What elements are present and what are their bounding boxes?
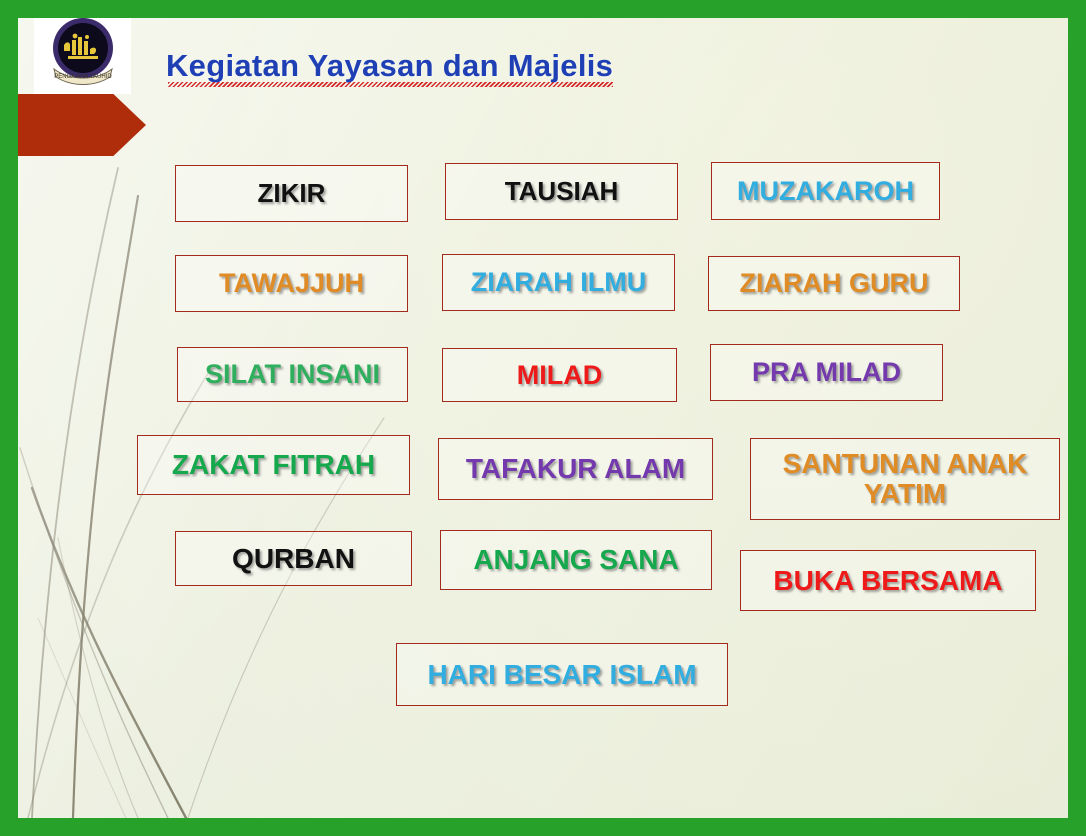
slide-canvas: PENGAJIAN TAUHID Kegiatan Yayasan dan Ma…	[18, 18, 1068, 818]
page-title: Kegiatan Yayasan dan Majelis	[166, 48, 613, 84]
activity-label: TAFAKUR ALAM	[466, 454, 685, 484]
activity-box[interactable]: TAUSIAH	[445, 163, 678, 220]
activity-label: SILAT INSANI	[205, 360, 380, 389]
activity-box[interactable]: MUZAKAROH	[711, 162, 940, 220]
spellcheck-squiggle-underline	[168, 82, 613, 87]
svg-text:PENGAJIAN TAUHID: PENGAJIAN TAUHID	[54, 74, 112, 80]
yayasan-logo: PENGAJIAN TAUHID	[34, 18, 131, 94]
activity-box[interactable]: HARI BESAR ISLAM	[396, 643, 728, 706]
activity-box[interactable]: ZAKAT FITRAH	[137, 435, 410, 495]
activity-label: QURBAN	[232, 544, 355, 574]
activity-label: ZIKIR	[258, 180, 326, 208]
activity-label: ZIARAH GURU	[740, 269, 929, 298]
activity-box[interactable]: BUKA BERSAMA	[740, 550, 1036, 611]
activity-label: MILAD	[517, 361, 602, 390]
activity-label: PRA MILAD	[752, 358, 901, 387]
activity-box[interactable]: ANJANG SANA	[440, 530, 712, 590]
activity-label: SANTUNAN ANAK YATIM	[783, 449, 1028, 509]
activity-box[interactable]: SILAT INSANI	[177, 347, 408, 402]
activity-label: MUZAKAROH	[737, 177, 914, 206]
activity-label: ZAKAT FITRAH	[172, 450, 375, 480]
activity-box[interactable]: ZIKIR	[175, 165, 408, 222]
presentation-slide: PENGAJIAN TAUHID Kegiatan Yayasan dan Ma…	[0, 0, 1086, 836]
activity-box[interactable]: SANTUNAN ANAK YATIM	[750, 438, 1060, 520]
activity-box[interactable]: TAWAJJUH	[175, 255, 408, 312]
activity-label: BUKA BERSAMA	[773, 566, 1002, 596]
activity-label: TAWAJJUH	[219, 269, 364, 298]
decorative-arrow-banner	[18, 94, 146, 156]
activity-box[interactable]: ZIARAH ILMU	[442, 254, 675, 311]
activity-label: HARI BESAR ISLAM	[427, 660, 696, 690]
activity-box[interactable]: PRA MILAD	[710, 344, 943, 401]
activity-box[interactable]: ZIARAH GURU	[708, 256, 960, 311]
activity-box[interactable]: TAFAKUR ALAM	[438, 438, 713, 500]
activity-label: ANJANG SANA	[473, 545, 678, 575]
activity-label: TAUSIAH	[505, 178, 619, 206]
logo-emblem-icon: PENGAJIAN TAUHID	[44, 18, 122, 89]
activity-label: ZIARAH ILMU	[471, 268, 646, 297]
activity-box[interactable]: MILAD	[442, 348, 677, 402]
page-title-text: Kegiatan Yayasan dan Majelis	[166, 48, 613, 83]
activity-box[interactable]: QURBAN	[175, 531, 412, 586]
